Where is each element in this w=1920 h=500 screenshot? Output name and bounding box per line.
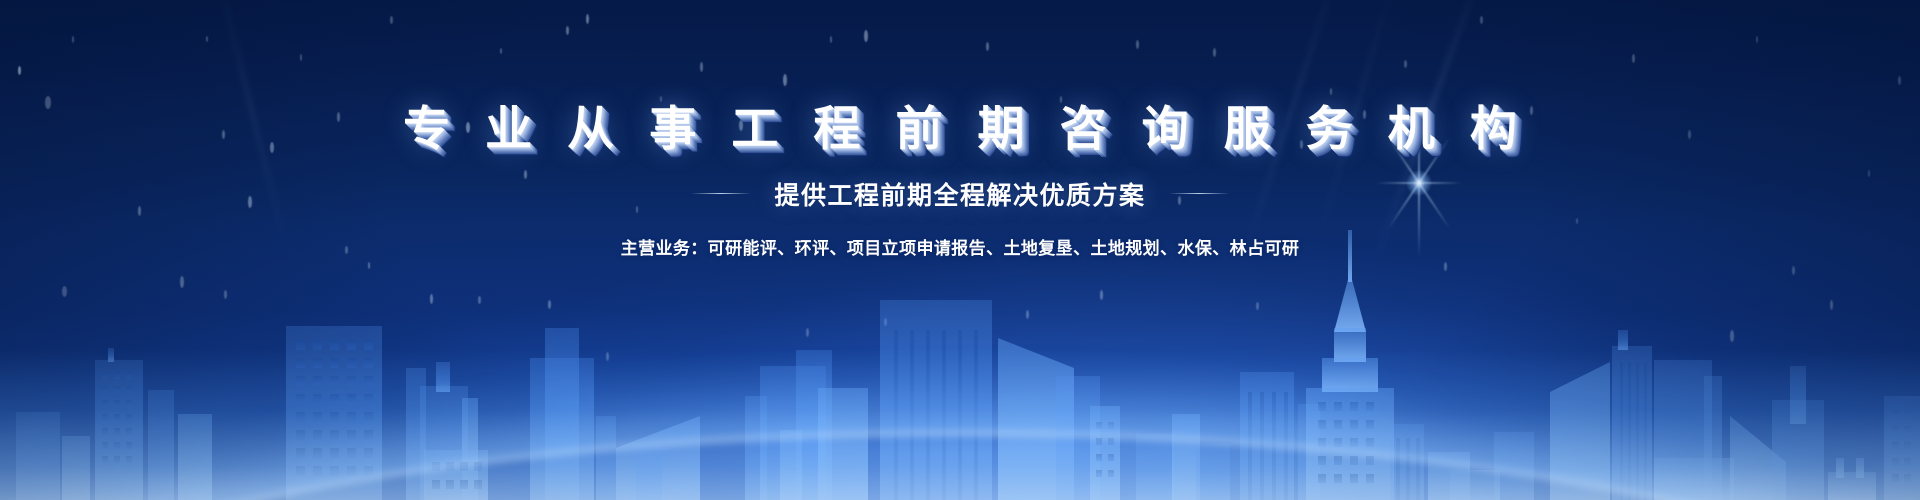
banner-subtitle: 提供工程前期全程解决优质方案	[774, 176, 1145, 212]
rule-left-icon	[692, 193, 750, 194]
rule-right-icon	[1170, 193, 1228, 194]
banner-title: 专 业 从 事 工 程 前 期 咨 询 服 务 机 构	[0, 104, 1920, 154]
hero-banner: 专 业 从 事 工 程 前 期 咨 询 服 务 机 构 提供工程前期全程解决优质…	[0, 0, 1920, 500]
banner-content: 专 业 从 事 工 程 前 期 咨 询 服 务 机 构 提供工程前期全程解决优质…	[0, 104, 1920, 259]
banner-services-line: 主营业务：可研能评、环评、项目立项申请报告、土地复垦、土地规划、水保、林占可研	[0, 234, 1920, 259]
banner-subtitle-row: 提供工程前期全程解决优质方案	[0, 176, 1920, 212]
